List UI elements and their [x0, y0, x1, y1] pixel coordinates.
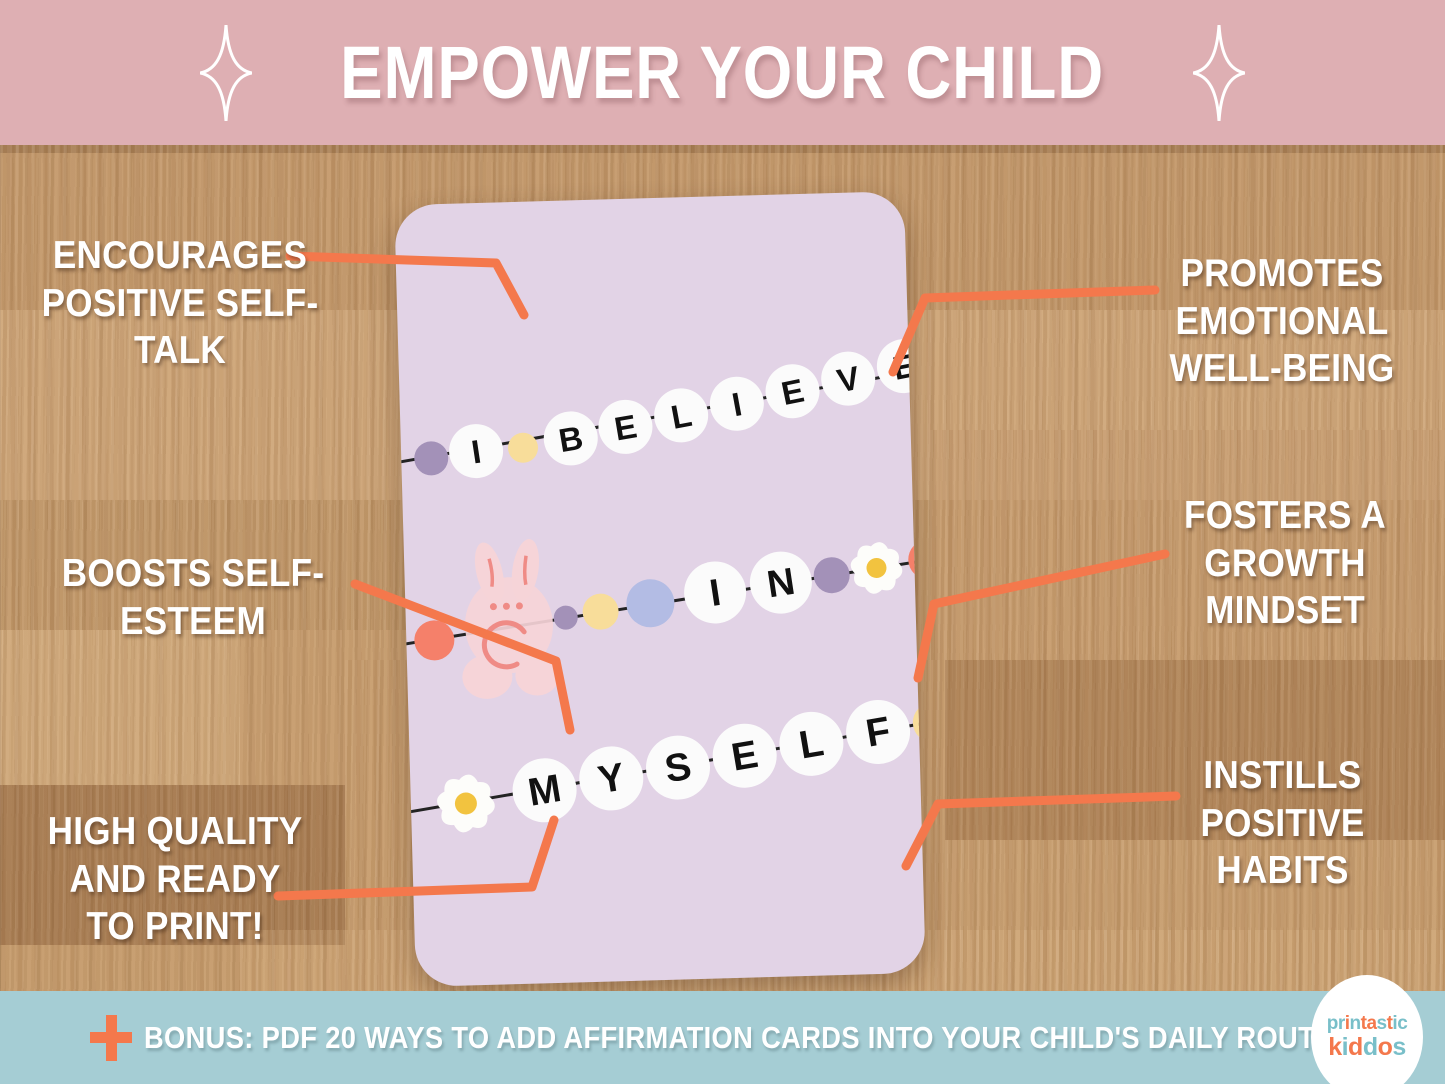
- callout-boosts: BOOSTS SELF-ESTEEM: [36, 550, 351, 645]
- callout-line: PROMOTES: [1147, 250, 1417, 298]
- connector-promotes: [893, 290, 1155, 372]
- callout-encourages: ENCOURAGES POSITIVE SELF-TALK: [36, 232, 324, 375]
- logo-line-1: printastic: [1327, 1014, 1408, 1033]
- connector-boosts: [355, 584, 570, 730]
- callout-fosters: FOSTERS A GROWTH MINDSET: [1155, 492, 1416, 635]
- callout-line: FOSTERS A: [1155, 492, 1416, 540]
- connector-instills: [906, 796, 1176, 866]
- callout-instills: INSTILLS POSITIVE HABITS: [1145, 752, 1420, 895]
- callout-line: TO PRINT!: [36, 903, 315, 951]
- poster-canvas: I B E L I E: [0, 0, 1445, 1084]
- callout-line: MINDSET: [1155, 587, 1416, 635]
- connector-high-quality: [278, 820, 554, 896]
- callout-line: EMOTIONAL: [1147, 298, 1417, 346]
- callout-line: AND READY: [36, 856, 315, 904]
- footer-banner: BONUS: PDF 20 WAYS TO ADD AFFIRMATION CA…: [0, 991, 1445, 1084]
- header-banner: EMPOWER YOUR CHILD: [0, 0, 1445, 145]
- plus-icon: [90, 1015, 132, 1061]
- callout-line: INSTILLS: [1145, 752, 1420, 800]
- callout-line: HIGH QUALITY: [36, 808, 315, 856]
- callout-promotes: PROMOTES EMOTIONAL WELL-BEING: [1147, 250, 1417, 393]
- bonus-text: BONUS: PDF 20 WAYS TO ADD AFFIRMATION CA…: [144, 1020, 1183, 1056]
- callout-line: POSITIVE SELF-TALK: [36, 280, 324, 375]
- callout-high-quality: HIGH QUALITY AND READY TO PRINT!: [36, 808, 315, 951]
- sparkle-icon: [1193, 25, 1245, 121]
- brand-logo[interactable]: printastic kiddos: [1311, 975, 1423, 1084]
- callout-line: BOOSTS SELF-ESTEEM: [36, 550, 351, 645]
- callout-line: WELL-BEING: [1147, 345, 1417, 393]
- callout-line: GROWTH: [1155, 540, 1416, 588]
- logo-line-2: kiddos: [1328, 1035, 1406, 1060]
- page-title: EMPOWER YOUR CHILD: [341, 36, 1105, 110]
- callout-line: POSITIVE HABITS: [1145, 800, 1420, 895]
- connector-encourages: [290, 256, 524, 315]
- callout-line: ENCOURAGES: [36, 232, 324, 280]
- connector-fosters: [918, 554, 1165, 678]
- sparkle-icon: [200, 25, 252, 121]
